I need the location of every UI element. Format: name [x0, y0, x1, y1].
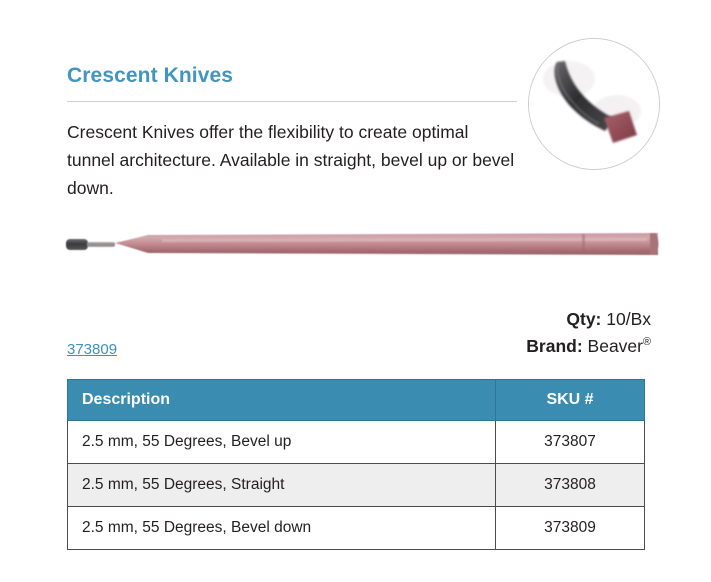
qty-value: 10/Bx — [606, 309, 651, 329]
brand-label: Brand: — [526, 336, 582, 356]
brand-value: Beaver — [588, 336, 643, 356]
qty-label: Qty: — [566, 309, 601, 329]
blade-closeup-graphic — [529, 39, 659, 169]
qty-line: Qty: 10/Bx — [526, 306, 651, 333]
column-header-description: Description — [68, 380, 496, 421]
product-meta: Qty: 10/Bx Brand: Beaver® — [526, 306, 651, 360]
product-photo-graphic — [62, 222, 662, 270]
cell-sku: 373809 — [496, 507, 645, 550]
cell-description: 2.5 mm, 55 Degrees, Bevel up — [68, 421, 496, 464]
product-photo — [62, 222, 662, 270]
table-row[interactable]: 2.5 mm, 55 Degrees, Bevel up 373807 — [68, 421, 645, 464]
table-row[interactable]: 2.5 mm, 55 Degrees, Straight 373808 — [68, 464, 645, 507]
cell-sku: 373808 — [496, 464, 645, 507]
cell-description: 2.5 mm, 55 Degrees, Bevel down — [68, 507, 496, 550]
column-header-sku: SKU # — [496, 380, 645, 421]
cell-sku: 373807 — [496, 421, 645, 464]
blade-closeup-image — [528, 38, 660, 170]
registered-trademark-icon: ® — [643, 336, 651, 348]
table-header-row: Description SKU # — [68, 380, 645, 421]
page-title: Crescent Knives — [67, 64, 233, 88]
product-description: Crescent Knives offer the flexibility to… — [67, 118, 519, 202]
featured-sku-link[interactable]: 373809 — [67, 341, 117, 358]
table-body: 2.5 mm, 55 Degrees, Bevel up 373807 2.5 … — [68, 421, 645, 550]
table-row[interactable]: 2.5 mm, 55 Degrees, Bevel down 373809 — [68, 507, 645, 550]
title-divider — [67, 101, 517, 102]
specification-table: Description SKU # 2.5 mm, 55 Degrees, Be… — [67, 379, 645, 550]
cell-description: 2.5 mm, 55 Degrees, Straight — [68, 464, 496, 507]
brand-line: Brand: Beaver® — [526, 333, 651, 360]
